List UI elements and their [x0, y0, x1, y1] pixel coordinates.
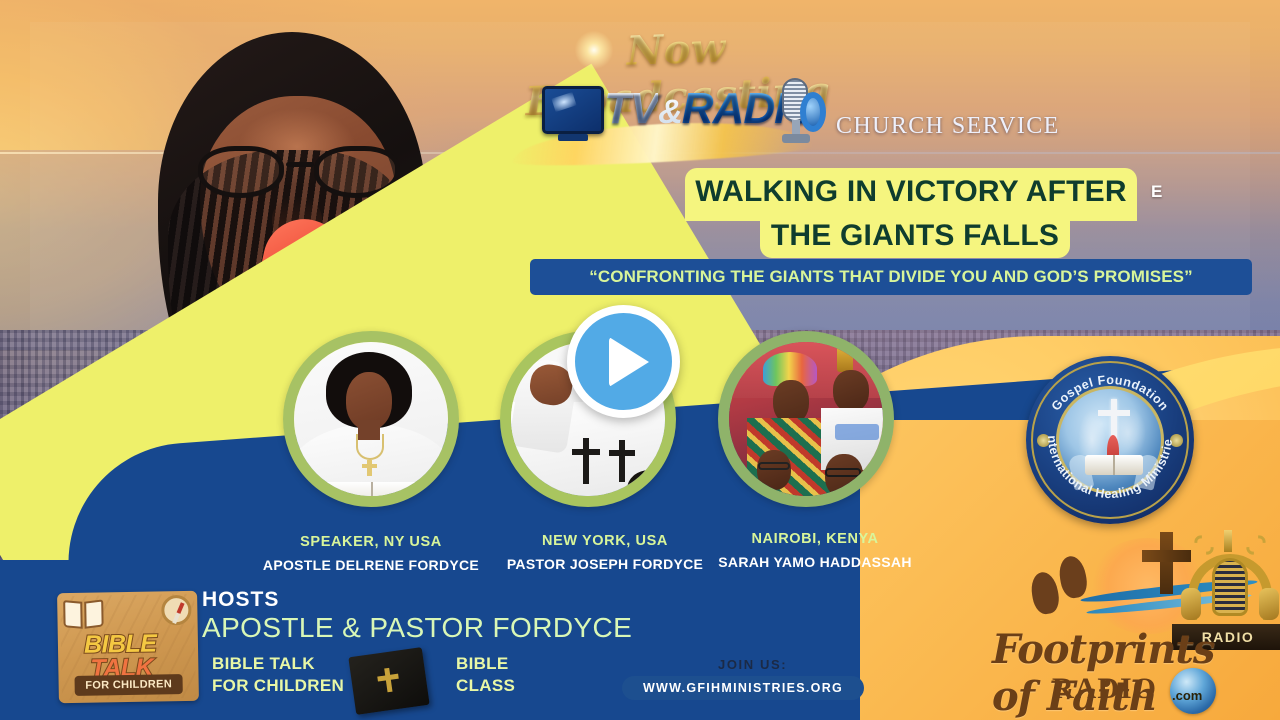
tv-radio-logo: TV&RADIO: [536, 78, 826, 154]
dotcom-text: .com: [1172, 688, 1202, 703]
sermon-title-line2-pill: THE GIANTS FALLS: [760, 213, 1070, 258]
open-book-icon: [63, 600, 103, 629]
sermon-subtitle-bar: “CONFRONTING THE GIANTS THAT DIVIDE YOU …: [530, 259, 1252, 295]
program-bible-class-line2: CLASS: [456, 675, 515, 697]
play-button[interactable]: [567, 305, 680, 418]
program-bible-class-line1: BIBLE: [456, 653, 515, 675]
footprint-icon-1: [1029, 570, 1062, 616]
church-service-label: CHURCH SERVICE: [836, 113, 1060, 140]
footprints-of-faith-radio-logo: RADIO Footprints of Faith RADIO .com: [976, 520, 1276, 710]
btc-ribbon: FOR CHILDREN: [74, 674, 182, 696]
program-bible-talk-line2: FOR CHILDREN: [212, 675, 344, 697]
television-icon: [542, 86, 604, 134]
seal-top-text: Gospel Foundation: [1049, 373, 1172, 413]
speaker-glasses: [196, 146, 402, 200]
speaker-photo-1: [283, 331, 459, 507]
speaker-caption-1: SPEAKER, NY USA APOSTLE DELRENE FORDYCE: [251, 534, 491, 573]
now-broadcasting-banner: Now Broadcasting TV&RADIO: [512, 26, 842, 176]
website-url-pill[interactable]: WWW.GFIHMINISTRIES.ORG: [622, 676, 864, 700]
seal-text-ring: Gospel Foundation International Healing …: [1026, 356, 1194, 524]
stray-character: E: [1151, 182, 1162, 202]
bible-talk-for-children-logo: BIBLE TALK FOR CHILDREN: [57, 591, 199, 703]
speaker-location-3: NAIROBI, KENYA: [695, 531, 935, 547]
microphone-headphones-icon: [1182, 528, 1278, 632]
speaker-caption-3: NAIROBI, KENYA SARAH YAMO HADDASSAH: [695, 531, 935, 570]
sermon-subtitle: “CONFRONTING THE GIANTS THAT DIVIDE YOU …: [589, 267, 1192, 287]
footprints-radio-text: RADIO: [1052, 672, 1157, 706]
compass-icon: [161, 595, 192, 626]
website-url: WWW.GFIHMINISTRIES.ORG: [643, 681, 843, 695]
speaker-photo-3: [718, 331, 894, 507]
svg-text:Gospel Foundation: Gospel Foundation: [1049, 373, 1172, 413]
bible-book-icon: [348, 647, 429, 715]
hosts-label: HOSTS: [202, 588, 279, 612]
ampersand: &: [658, 93, 682, 131]
program-bible-class: BIBLE CLASS: [456, 653, 515, 697]
speaker-name-3: SARAH YAMO HADDASSAH: [695, 554, 935, 570]
program-bible-talk: BIBLE TALK FOR CHILDREN: [212, 653, 344, 697]
cross-icon-large: [1160, 532, 1173, 594]
speaker-caption-2: NEW YORK, USA PASTOR JOSEPH FORDYCE: [485, 533, 725, 572]
play-icon: [609, 337, 649, 387]
tv-word: TV: [604, 84, 658, 133]
join-us-label: JOIN US:: [718, 657, 787, 672]
hosts-names: APOSTLE & PASTOR FORDYCE: [202, 612, 632, 644]
broadcast-stream-frame: Now Broadcasting TV&RADIO CHURCH SERVICE…: [0, 0, 1280, 720]
microphone-icon: [770, 74, 826, 146]
footprint-icon-2: [1057, 554, 1090, 600]
speaker-name-1: APOSTLE DELRENE FORDYCE: [251, 557, 491, 573]
sermon-title-line2: THE GIANTS FALLS: [760, 213, 1070, 258]
speaker-location-1: SPEAKER, NY USA: [251, 534, 491, 550]
speaker-name-2: PASTOR JOSEPH FORDYCE: [485, 556, 725, 572]
television-stand-icon: [558, 134, 588, 141]
speaker-location-2: NEW YORK, USA: [485, 533, 725, 549]
btc-ribbon-text: FOR CHILDREN: [85, 678, 172, 692]
program-bible-talk-line1: BIBLE TALK: [212, 653, 344, 675]
gfih-ministries-seal: Gospel Foundation International Healing …: [1026, 356, 1194, 524]
